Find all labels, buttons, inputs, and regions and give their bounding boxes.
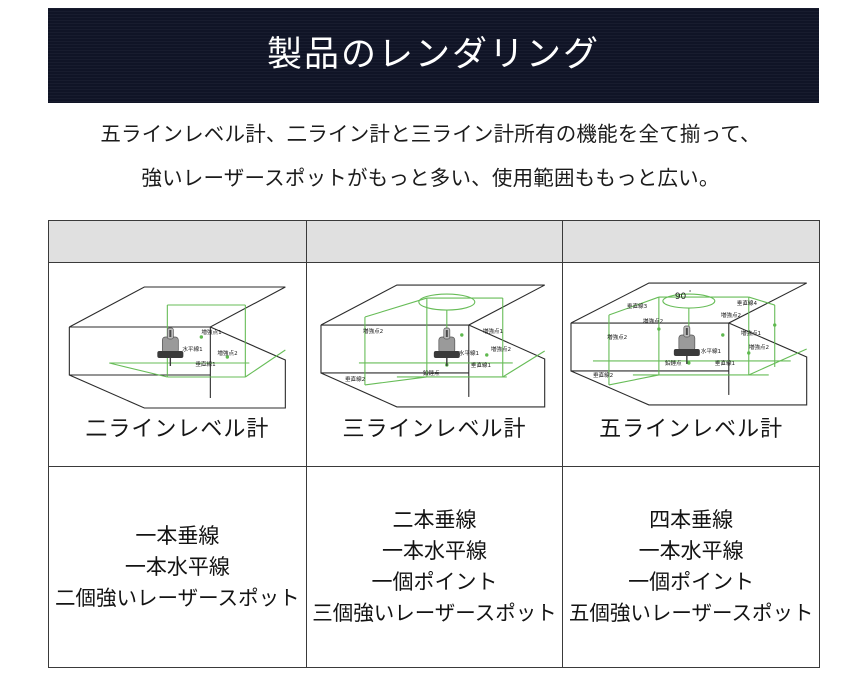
feature-item: 二個強いレーザースポット (55, 583, 300, 614)
feature-item: 三個強いレーザースポット (312, 598, 557, 629)
feature-item: 五個強いレーザースポット (569, 598, 814, 629)
svg-text:鉛錘点: 鉛錘点 (665, 359, 682, 367)
svg-text:増強点2: 増強点2 (721, 311, 741, 319)
laser-level-device-icon (157, 328, 183, 366)
svg-text:増強点2: 増強点2 (217, 349, 237, 357)
subtitle-block: 五ラインレベル計、二ライン計と三ライン計所有の機能を全て揃って、 強いレーザース… (0, 112, 861, 200)
svg-text:水平線1: 水平線1 (182, 345, 203, 353)
feature-item: 一本水平線 (382, 536, 487, 567)
feature-item: 一個ポイント (372, 567, 498, 598)
table-cell-diagram-2line: 増強点1 水平線1 増強点2 垂直線1 二ラインレベル計 (49, 263, 306, 466)
diagram-5line: 垂直線3 垂直線4 増強点2 増強点2 増強点2 増強点1 水平線1 増強点2 … (563, 265, 819, 415)
svg-text:増強点2: 増強点2 (643, 317, 663, 325)
feature-item: 二本垂線 (393, 505, 477, 536)
feature-cell-5line: 四本垂線 一本水平線 一個ポイント 五個強いレーザースポット (562, 467, 819, 667)
svg-text:垂直線1: 垂直線1 (715, 359, 736, 367)
table-header-cell (562, 221, 819, 262)
svg-text:増強点2: 増強点2 (749, 343, 769, 351)
svg-text:垂直線2: 垂直線2 (593, 371, 613, 379)
svg-text:垂直線2: 垂直線2 (345, 375, 365, 383)
table-header-cell (306, 221, 563, 262)
svg-text:増強点2: 増強点2 (363, 327, 383, 335)
svg-text:垂直線3: 垂直線3 (627, 302, 648, 310)
table-diagram-row: 増強点1 水平線1 増強点2 垂直線1 二ラインレベル計 (49, 263, 819, 467)
column-caption-2line: 二ラインレベル計 (85, 419, 269, 441)
feature-item: 一個ポイント (628, 567, 754, 598)
laser-level-device-icon (674, 326, 700, 364)
subtitle-line-1: 五ラインレベル計、二ライン計と三ライン計所有の機能を全て揃って、 (0, 112, 861, 156)
svg-text:鉛錘点: 鉛錘点 (423, 369, 440, 377)
svg-text:増強点1: 増強点1 (482, 327, 503, 335)
svg-text:水平線1: 水平線1 (701, 347, 722, 355)
svg-text:増強点1: 増強点1 (201, 328, 222, 336)
svg-text:増強点2: 増強点2 (490, 345, 510, 353)
table-feature-row: 一本垂線 一本水平線 二個強いレーザースポット 二本垂線 一本水平線 一個ポイン… (49, 467, 819, 667)
feature-cell-2line: 一本垂線 一本水平線 二個強いレーザースポット (49, 467, 306, 667)
laser-level-device-icon (434, 328, 460, 366)
header-banner: 製品のレンダリング (48, 8, 819, 103)
svg-text:水平線1: 水平線1 (458, 349, 479, 357)
diagram-3line: 増強点2 垂直線2 鉛錘点 水平線1 増強点1 増強点2 垂直線1 (307, 265, 563, 415)
table-cell-diagram-5line: 垂直線3 垂直線4 増強点2 増強点2 増強点2 増強点1 水平線1 増強点2 … (562, 263, 819, 466)
table-header-row (49, 221, 819, 263)
table-cell-diagram-3line: 増強点2 垂直線2 鉛錘点 水平線1 増強点1 増強点2 垂直線1 三ラインレベ… (306, 263, 563, 466)
svg-text:垂直線1: 垂直線1 (470, 361, 491, 369)
feature-item: 四本垂線 (649, 505, 733, 536)
product-rendering-page: 製品のレンダリング 五ラインレベル計、二ライン計と三ライン計所有の機能を全て揃っ… (0, 0, 861, 678)
table-header-cell (49, 221, 306, 262)
comparison-table: 増強点1 水平線1 増強点2 垂直線1 二ラインレベル計 (48, 220, 820, 668)
svg-text:垂直線4: 垂直線4 (737, 299, 758, 307)
page-title: 製品のレンダリング (267, 38, 600, 73)
feature-cell-3line: 二本垂線 一本水平線 一個ポイント 三個強いレーザースポット (306, 467, 563, 667)
diagram-2line: 増強点1 水平線1 増強点2 垂直線1 (49, 265, 306, 415)
feature-item: 一本垂線 (135, 521, 219, 552)
angle-label-90: 90 (675, 292, 687, 302)
svg-text:増強点2: 増強点2 (607, 333, 627, 341)
column-caption-5line: 五ラインレベル計 (599, 419, 783, 441)
svg-text:垂直線1: 垂直線1 (195, 360, 216, 368)
svg-text:増強点1: 増強点1 (741, 329, 762, 337)
subtitle-line-2: 強いレーザースポットがもっと多い、使用範囲ももっと広い。 (0, 156, 861, 200)
svg-text:°: ° (689, 290, 692, 296)
feature-item: 一本水平線 (639, 536, 744, 567)
feature-item: 一本水平線 (125, 552, 230, 583)
column-caption-3line: 三ラインレベル計 (343, 419, 527, 441)
